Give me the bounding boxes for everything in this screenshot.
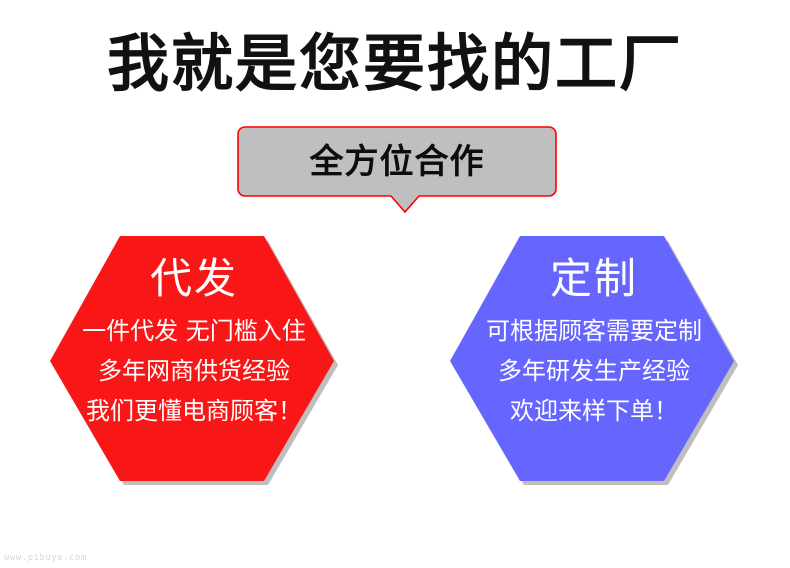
card-line: 可根据顾客需要定制 — [486, 311, 702, 351]
card-dropship-title: 代发 — [150, 253, 238, 305]
card-custom-lines: 可根据顾客需要定制 多年研发生产经验 欢迎来样下单！ — [486, 311, 702, 431]
watermark: www.pibuye.com — [4, 552, 87, 564]
poster-canvas: 我就是您要找的工厂 全方位合作 代发 一件代发 无门槛入住 多年网商供货经验 我… — [0, 0, 790, 568]
page-title: 我就是您要找的工厂 — [0, 26, 790, 102]
card-custom-title: 定制 — [550, 253, 638, 305]
card-line: 一件代发 无门槛入住 — [82, 311, 306, 351]
card-line: 多年网商供货经验 — [98, 351, 290, 391]
card-dropship-content: 代发 一件代发 无门槛入住 多年网商供货经验 我们更懂电商顾客！ — [48, 235, 340, 487]
card-dropship-lines: 一件代发 无门槛入住 多年网商供货经验 我们更懂电商顾客！ — [82, 311, 306, 431]
card-dropship[interactable]: 代发 一件代发 无门槛入住 多年网商供货经验 我们更懂电商顾客！ — [48, 235, 340, 487]
banner-label: 全方位合作 — [237, 140, 557, 184]
card-custom-content: 定制 可根据顾客需要定制 多年研发生产经验 欢迎来样下单！ — [448, 235, 740, 487]
cooperation-banner: 全方位合作 — [237, 126, 557, 214]
card-line: 欢迎来样下单！ — [510, 391, 678, 431]
card-custom[interactable]: 定制 可根据顾客需要定制 多年研发生产经验 欢迎来样下单！ — [448, 235, 740, 487]
card-line: 我们更懂电商顾客！ — [86, 391, 302, 431]
card-line: 多年研发生产经验 — [498, 351, 690, 391]
